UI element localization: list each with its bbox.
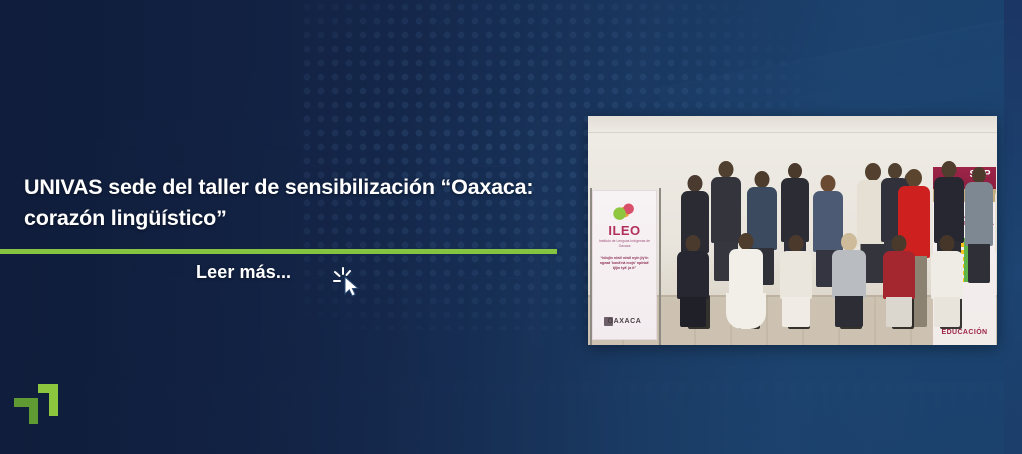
right-edge-strip xyxy=(1004,0,1022,454)
person-seated xyxy=(676,235,710,327)
click-cursor-icon xyxy=(331,265,365,299)
read-more-link[interactable]: Leer más... xyxy=(196,262,291,283)
photo-people-group xyxy=(588,116,997,345)
person-standing xyxy=(964,167,994,283)
news-photo[interactable]: ILEO Instituto de Lenguas Indígenas de O… xyxy=(588,116,997,345)
hero-banner: UNIVAS sede del taller de sensibilizació… xyxy=(0,0,1022,454)
univas-chevron-logo-icon xyxy=(12,380,60,426)
read-more-row: Leer más... xyxy=(0,262,557,302)
headline-text: UNIVAS sede del taller de sensibilizació… xyxy=(24,172,570,234)
person-standing xyxy=(994,173,997,287)
person-seated xyxy=(726,233,766,329)
person-seated xyxy=(882,235,916,327)
person-seated xyxy=(830,233,868,327)
person-seated xyxy=(930,235,964,327)
person-seated xyxy=(778,235,814,327)
green-divider xyxy=(0,249,557,254)
